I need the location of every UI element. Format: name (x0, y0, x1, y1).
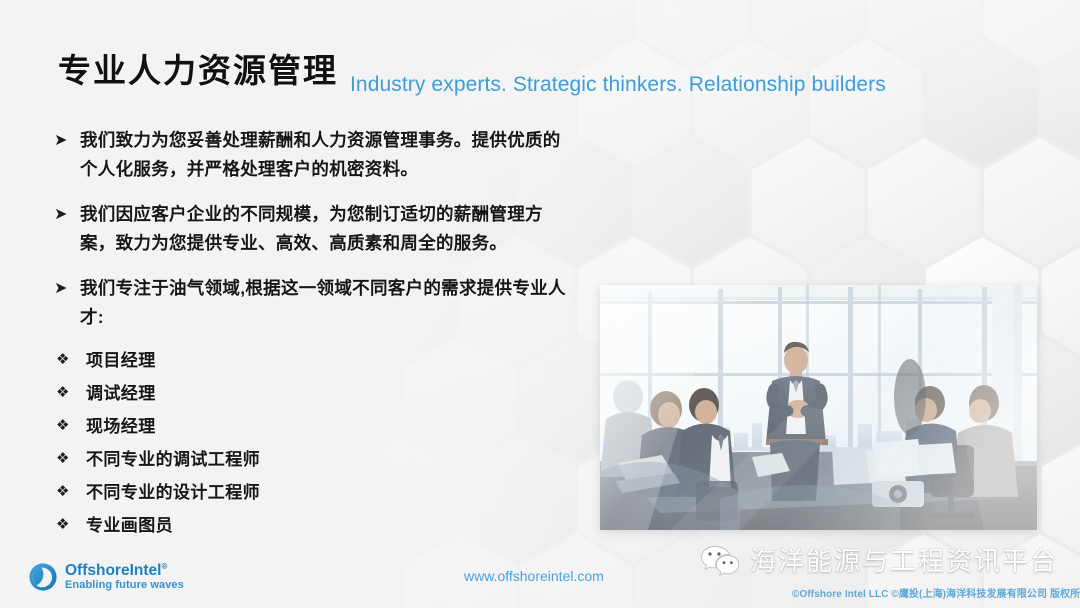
role-label: 专业画图员 (86, 511, 173, 536)
wave-crescent-icon (28, 562, 58, 592)
arrow-bullet-icon: ➤ (50, 274, 80, 303)
presentation-slide: 专业人力资源管理 Industry experts. Strategic thi… (0, 0, 1080, 608)
bullet-list: ➤ 我们致力为您妥善处理薪酬和人力资源管理事务。提供优质的个人化服务，并严格处理… (50, 126, 570, 332)
meeting-photo (600, 285, 1037, 530)
role-label: 不同专业的设计工程师 (86, 478, 260, 503)
list-item: ❖ 调试经理 (52, 375, 452, 408)
brand-tagline: Enabling future waves (65, 580, 184, 592)
role-label: 现场经理 (86, 412, 156, 437)
diamond-bullet-icon: ❖ (52, 350, 86, 368)
wechat-account-banner: 海洋能源与工程资讯平台 ©Offshore Intel LLC ©鹰投(上海)海… (700, 541, 1072, 578)
role-label: 项目经理 (86, 346, 156, 371)
website-link[interactable]: www.offshoreintel.com (464, 568, 604, 584)
wechat-icon (700, 544, 740, 576)
brand-wordmark: OffshoreIntel® Enabling future waves (65, 563, 184, 592)
list-item: ❖ 专业画图员 (52, 507, 452, 540)
brand-logo: OffshoreIntel® Enabling future waves (28, 562, 184, 592)
page-title: 专业人力资源管理 (58, 44, 338, 92)
bullet-item: ➤ 我们专注于油气领域,根据这一领域不同客户的需求提供专业人才: (50, 274, 570, 332)
diamond-bullet-icon: ❖ (52, 449, 86, 467)
bullet-item: ➤ 我们因应客户企业的不同规模，为您制订适切的薪酬管理方案，致力为您提供专业、高… (50, 200, 570, 258)
diamond-bullet-icon: ❖ (52, 515, 86, 533)
bullet-text: 我们专注于油气领域,根据这一领域不同客户的需求提供专业人才: (80, 274, 570, 332)
role-label: 不同专业的调试工程师 (86, 445, 260, 470)
diamond-bullet-icon: ❖ (52, 383, 86, 401)
list-item: ❖ 现场经理 (52, 408, 452, 441)
list-item: ❖ 不同专业的调试工程师 (52, 441, 452, 474)
bullet-text: 我们因应客户企业的不同规模，为您制订适切的薪酬管理方案，致力为您提供专业、高效、… (80, 200, 570, 258)
role-label: 调试经理 (86, 379, 156, 404)
brand-name: OffshoreIntel (65, 562, 161, 579)
bullet-item: ➤ 我们致力为您妥善处理薪酬和人力资源管理事务。提供优质的个人化服务，并严格处理… (50, 126, 570, 184)
diamond-bullet-icon: ❖ (52, 416, 86, 434)
page-subtitle: Industry experts. Strategic thinkers. Re… (350, 73, 886, 97)
wechat-account-name: 海洋能源与工程资讯平台 (750, 541, 1058, 578)
arrow-bullet-icon: ➤ (50, 200, 80, 229)
copyright-notice: ©Offshore Intel LLC ©鹰投(上海)海洋科技发展有限公司 版权… (792, 585, 1080, 600)
role-list: ❖ 项目经理 ❖ 调试经理 ❖ 现场经理 ❖ 不同专业的调试工程师 ❖ 不同专业… (52, 342, 452, 540)
arrow-bullet-icon: ➤ (50, 126, 80, 155)
registered-mark: ® (161, 562, 167, 571)
bullet-text: 我们致力为您妥善处理薪酬和人力资源管理事务。提供优质的个人化服务，并严格处理客户… (80, 126, 570, 184)
list-item: ❖ 项目经理 (52, 342, 452, 375)
list-item: ❖ 不同专业的设计工程师 (52, 474, 452, 507)
diamond-bullet-icon: ❖ (52, 482, 86, 500)
